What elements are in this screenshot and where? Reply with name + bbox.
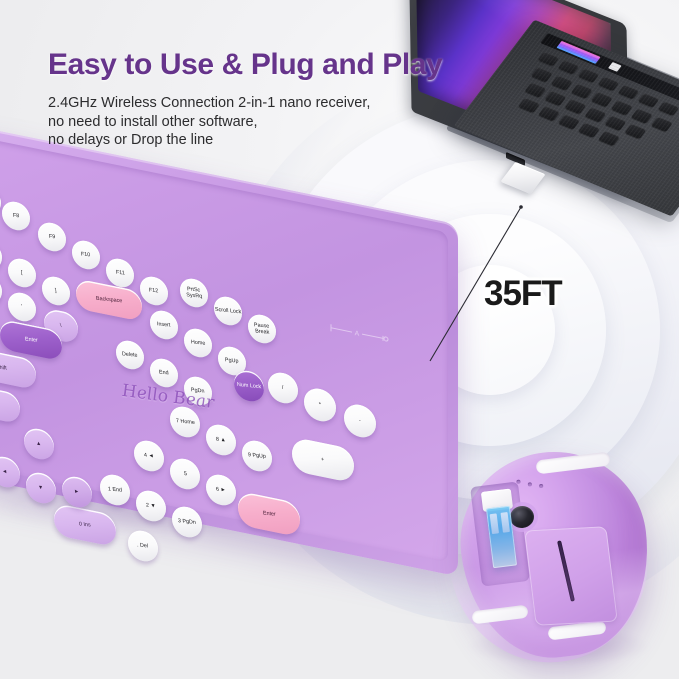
subcopy-block: 2.4GHz Wireless Connection 2-in-1 nano r… (48, 94, 370, 150)
laptop-key[interactable] (578, 68, 599, 83)
key-label: ' (21, 304, 23, 310)
laptop-key[interactable] (618, 85, 639, 100)
laptop-key[interactable] (638, 93, 659, 108)
touchbar-gradient (556, 41, 601, 65)
subcopy-line: no need to install other software, (48, 113, 370, 132)
key-label: 6 ► (216, 486, 226, 493)
product-feature-canvas: MacBook Pro (0, 0, 679, 679)
laptop-key[interactable] (525, 82, 547, 97)
key-label: ▼ (38, 485, 44, 492)
key-label: Delete (122, 351, 138, 359)
key-label: PrtSc SysRq (180, 286, 208, 301)
laptop-key[interactable] (658, 101, 679, 116)
key-label: 3 PgDn (178, 518, 197, 526)
key-label: F10 (81, 251, 91, 258)
laptop-key[interactable] (631, 108, 653, 123)
laptop-macbook-pro: MacBook Pro (398, 0, 679, 203)
laptop-key[interactable] (538, 106, 560, 121)
laptop-key[interactable] (605, 116, 627, 131)
key-label: 2 ▼ (146, 502, 156, 509)
wireless-mouse (452, 440, 679, 675)
svg-text:A: A (355, 330, 360, 338)
key-label: F9 (49, 234, 56, 241)
key-label: Shift (0, 364, 7, 371)
laptop-key[interactable] (598, 77, 619, 92)
laptop-key[interactable] (518, 98, 540, 113)
key-label: 7 Home (175, 418, 194, 426)
key-0-ins[interactable]: 0 Ins (54, 503, 116, 548)
mouse-battery-door[interactable] (524, 526, 618, 626)
key-label: . Del (137, 542, 149, 549)
laptop-key[interactable] (551, 75, 573, 90)
key-label: F12 (149, 287, 159, 294)
key-label: Backspace (96, 296, 123, 305)
laptop-key[interactable] (571, 84, 593, 99)
touchbar-square (608, 62, 622, 72)
key-label: Insert (157, 321, 171, 328)
page-title: Easy to Use & Plug and Play (48, 48, 442, 82)
laptop-key[interactable] (611, 100, 633, 115)
key-label: 8 ▲ (216, 436, 226, 443)
key-label: 5 (183, 471, 187, 477)
key-label: 0 Ins (79, 521, 91, 528)
key-label: ◄ (2, 469, 8, 476)
laptop-key[interactable] (558, 60, 579, 75)
laptop-key[interactable] (558, 114, 580, 129)
key-label: Home (191, 339, 206, 347)
key-label: ] (55, 288, 57, 294)
key-label: / (282, 385, 284, 391)
laptop-key[interactable] (585, 107, 607, 122)
subcopy-line: no delays or Drop the line (48, 131, 370, 150)
subcopy-line: 2.4GHz Wireless Connection 2-in-1 nano r… (48, 94, 370, 113)
key-label: - (359, 418, 361, 424)
key-label: Scroll Lock (215, 307, 242, 316)
key-label: ► (74, 489, 80, 496)
key-label: F11 (115, 270, 124, 277)
wireless-keyboard: A Hello Bear F7F8F9F10F11F12PrtSc SysRqS… (0, 175, 472, 575)
laptop-key[interactable] (538, 52, 559, 67)
laptop-key[interactable] (651, 117, 673, 132)
range-callout-35ft: 35FT (484, 274, 562, 314)
key-label: * (319, 402, 322, 408)
laptop-key[interactable] (591, 92, 613, 107)
laptop-key[interactable] (545, 91, 567, 106)
key-label: End (159, 369, 169, 376)
key-label: F8 (13, 213, 20, 220)
receiver-connector (486, 506, 517, 568)
key-label: 9 PgUp (248, 452, 267, 460)
key-label: ▲ (36, 441, 42, 448)
key-label: PgUp (225, 357, 239, 364)
key-label: Enter (262, 510, 275, 517)
laptop-key[interactable] (598, 131, 620, 146)
laptop-key[interactable] (625, 124, 647, 139)
laptop-key[interactable] (531, 67, 553, 82)
key-label: [ (21, 270, 23, 276)
key-label: 4 ◄ (144, 452, 154, 459)
key-label: Enter (24, 336, 37, 343)
key-label: + (321, 457, 325, 463)
key-label: 1 End (108, 486, 123, 493)
key-del[interactable]: . Del (128, 528, 158, 564)
key-label: Num Lock (237, 382, 262, 390)
key-label: \ (60, 323, 62, 329)
laptop-key[interactable] (578, 123, 600, 138)
key-label: Pause Break (248, 322, 276, 337)
laptop-key[interactable] (565, 99, 587, 114)
